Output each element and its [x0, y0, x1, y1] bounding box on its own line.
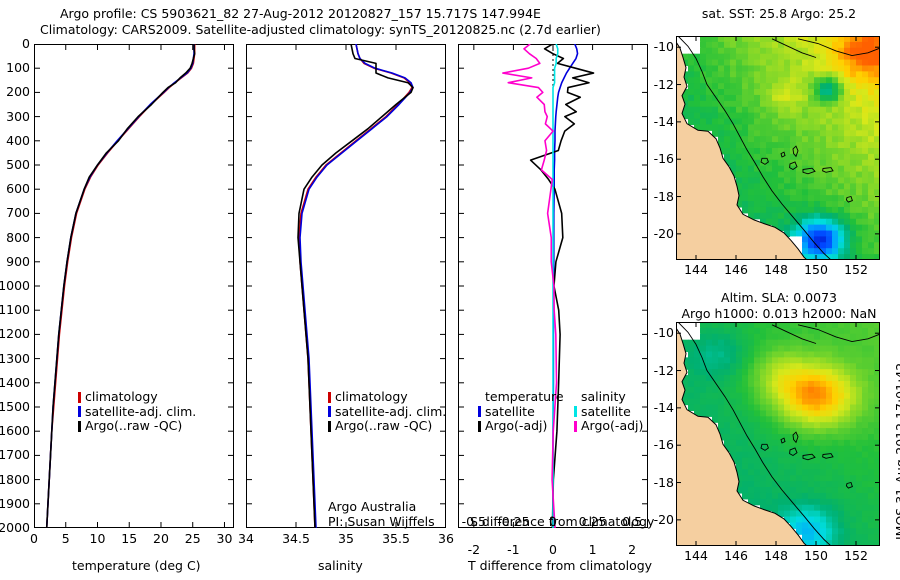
axis-tick-label: 146	[718, 548, 754, 563]
temperature-profile-plot	[34, 44, 234, 528]
axis-tick-label: -10	[640, 325, 674, 340]
axis-tick-label: 148	[758, 262, 794, 277]
axis-tick-label: 150	[798, 262, 834, 277]
legend-swatch	[78, 406, 81, 417]
difference-profile-panel	[458, 44, 648, 528]
temperature-difference-axis-label: T difference from climatology	[468, 558, 652, 573]
legend-label: satellite	[581, 405, 631, 420]
legend-swatch	[328, 392, 331, 403]
credit-line1: Argo Australia	[328, 500, 435, 515]
temperature-profile-panel	[34, 44, 234, 528]
legend-label: Argo(-adj)	[485, 419, 547, 434]
legend-swatch	[574, 421, 577, 432]
legend-swatch	[478, 421, 481, 432]
credit-line2: PI: Susan Wijffels	[328, 515, 435, 530]
legend-item: Argo(..raw -QC)	[328, 419, 446, 434]
axis-tick-label: -1	[497, 542, 529, 557]
sla-map-title-line1: Altim. SLA: 0.0073	[672, 290, 886, 305]
difference-legend-salinity: salinitysatelliteArgo(-adj)	[574, 390, 643, 434]
axis-tick-label: 35.5	[378, 531, 414, 546]
axis-tick-label: 144	[678, 548, 714, 563]
sla-map-title-line2: Argo h1000: 0.013 h2000: NaN	[662, 306, 896, 321]
axis-tick-label: -14	[640, 114, 674, 129]
axis-tick-label: 500	[0, 157, 30, 172]
legend-label: Argo(..raw -QC)	[85, 419, 182, 434]
difference-profile-plot	[458, 44, 648, 528]
salinity-legend: climatologysatellite-adj. clim.Argo(..ra…	[328, 390, 446, 434]
axis-tick-label: -20	[640, 512, 674, 527]
axis-tick-label: -2	[458, 542, 490, 557]
axis-tick-label: 900	[0, 254, 30, 269]
axis-tick-label: 1700	[0, 447, 30, 462]
axis-tick-label: -14	[640, 400, 674, 415]
axis-tick-label: 1500	[0, 399, 30, 414]
legend-item: satellite-adj. clim.	[328, 405, 446, 420]
axis-tick-label: 200	[0, 84, 30, 99]
axis-tick-label: 10	[83, 531, 111, 546]
axis-tick-label: -18	[640, 189, 674, 204]
legend-label: satellite-adj. clim.	[85, 405, 196, 420]
axis-tick-label: 1100	[0, 302, 30, 317]
sla-map-canvas[interactable]	[676, 322, 880, 546]
axis-tick-label: 0	[20, 531, 48, 546]
axis-tick-label: 146	[718, 262, 754, 277]
axis-tick-label: 1200	[0, 326, 30, 341]
axis-tick-label: 34	[228, 531, 264, 546]
axis-tick-label: -12	[640, 363, 674, 378]
argo-australia-credit: Argo Australia PI: Susan Wijffels	[328, 500, 435, 529]
axis-tick-label: 150	[798, 548, 834, 563]
sla-map-panel[interactable]	[676, 322, 880, 546]
legend-label: Argo(..raw -QC)	[335, 419, 432, 434]
legend-swatch	[574, 406, 577, 417]
salinity-axis-label: salinity	[318, 558, 363, 573]
legend-label: satellite	[485, 405, 535, 420]
sst-map-canvas[interactable]	[676, 36, 880, 260]
legend-label: climatology	[85, 390, 158, 405]
page-title-line2: Climatology: CARS2009. Satellite-adjuste…	[40, 22, 601, 37]
salinity-profile-plot	[246, 44, 446, 528]
legend-swatch	[328, 406, 331, 417]
axis-tick-label: 148	[758, 548, 794, 563]
axis-tick-label: 0	[537, 542, 569, 557]
axis-tick-label: -12	[640, 77, 674, 92]
legend-item: Argo(..raw -QC)	[78, 419, 196, 434]
legend-swatch	[478, 406, 481, 417]
legend-item: satellite	[574, 405, 643, 420]
salinity-profile-panel	[246, 44, 446, 528]
axis-tick-label: 1400	[0, 375, 30, 390]
sst-map-panel[interactable]	[676, 36, 880, 260]
axis-tick-label: 25	[179, 531, 207, 546]
legend-swatch	[78, 421, 81, 432]
axis-tick-label: 144	[678, 262, 714, 277]
axis-tick-label: 1	[577, 542, 609, 557]
difference-legend-temperature: temperaturesatelliteArgo(-adj)	[478, 390, 564, 434]
axis-tick-label: 100	[0, 60, 30, 75]
axis-tick-label: 600	[0, 181, 30, 196]
axis-tick-label: 0	[0, 36, 30, 51]
axis-tick-label: 700	[0, 205, 30, 220]
legend-item: climatology	[78, 390, 196, 405]
axis-tick-label: 20	[147, 531, 175, 546]
imos-timestamp: IMOS 31-Aug-2012 17:01:42	[893, 363, 900, 540]
axis-tick-label: 152	[838, 262, 874, 277]
legend-label: climatology	[335, 390, 408, 405]
axis-tick-label: 1800	[0, 472, 30, 487]
page-title-line1: Argo profile: CS 5903621_82 27-Aug-2012 …	[60, 6, 541, 21]
legend-title: temperature	[485, 390, 564, 405]
axis-tick-label: 35	[328, 531, 364, 546]
sst-map-title: sat. SST: 25.8 Argo: 25.2	[672, 6, 886, 21]
axis-tick-label: 400	[0, 133, 30, 148]
axis-tick-label: 5	[52, 531, 80, 546]
axis-tick-label: 34.5	[278, 531, 314, 546]
legend-swatch	[78, 392, 81, 403]
axis-tick-label: 1000	[0, 278, 30, 293]
imos-timestamp-wrapper: IMOS 31-Aug-2012 17:01:42	[893, 540, 900, 555]
axis-tick-label: -18	[640, 475, 674, 490]
legend-item: satellite	[478, 405, 564, 420]
salinity-difference-axis-label: S difference from climatology	[470, 514, 654, 529]
axis-tick-label: 152	[838, 548, 874, 563]
axis-tick-label: 15	[115, 531, 143, 546]
axis-tick-label: -16	[640, 151, 674, 166]
legend-item: Argo(-adj)	[574, 419, 643, 434]
axis-tick-label: 2	[616, 542, 648, 557]
legend-label: satellite-adj. clim.	[335, 405, 446, 420]
axis-tick-label: -10	[640, 39, 674, 54]
axis-tick-label: 300	[0, 109, 30, 124]
temperature-legend: climatologysatellite-adj. clim.Argo(..ra…	[78, 390, 196, 434]
axis-tick-label: 1300	[0, 351, 30, 366]
temperature-axis-label: temperature (deg C)	[72, 558, 201, 573]
legend-label: Argo(-adj)	[581, 419, 643, 434]
legend-title: salinity	[581, 390, 643, 405]
axis-tick-label: 1600	[0, 423, 30, 438]
legend-item: climatology	[328, 390, 446, 405]
axis-tick-label: -16	[640, 437, 674, 452]
legend-item: satellite-adj. clim.	[78, 405, 196, 420]
legend-swatch	[328, 421, 331, 432]
axis-tick-label: 1900	[0, 496, 30, 511]
legend-item: Argo(-adj)	[478, 419, 564, 434]
axis-tick-label: 800	[0, 230, 30, 245]
axis-tick-label: -20	[640, 226, 674, 241]
